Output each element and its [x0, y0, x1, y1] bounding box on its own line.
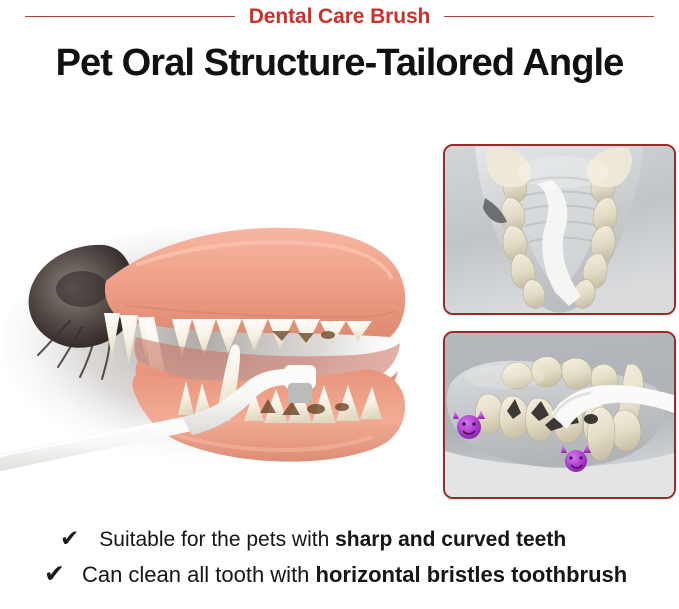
bullet-lead: Can clean all tooth with — [82, 562, 316, 587]
kicker-band: Dental Care Brush — [0, 2, 679, 30]
kicker-title: Dental Care Brush — [249, 6, 431, 27]
page-title: Pet Oral Structure-Tailored Angle — [0, 42, 679, 86]
bullet-strong: sharp and curved teeth — [335, 528, 566, 551]
panel-side-jaw-model — [443, 331, 676, 499]
bullet-strong: horizontal bristles toothbrush — [316, 562, 628, 587]
bullet-text: Can clean all tooth with horizontal bris… — [82, 562, 627, 588]
check-mark-icon: ✔ — [44, 561, 65, 586]
kicker-rule-right — [444, 16, 654, 17]
bullet-lead: Suitable for the pets with — [99, 528, 335, 551]
check-mark-icon: ✔ — [60, 528, 79, 551]
kicker-rule-left — [25, 16, 235, 17]
dog-mouth-brushing-illustration — [0, 185, 436, 515]
list-item: ✔ Suitable for the pets with sharp and c… — [0, 528, 679, 552]
feature-bullet-list: ✔ Suitable for the pets with sharp and c… — [0, 528, 679, 588]
list-item: ✔ Can clean all tooth with horizontal br… — [0, 561, 679, 588]
panel-upper-jaw-model — [443, 144, 676, 315]
product-feature-banner: Dental Care Brush Pet Oral Structure-Tai… — [0, 0, 679, 609]
bullet-text: Suitable for the pets with sharp and cur… — [99, 528, 566, 552]
